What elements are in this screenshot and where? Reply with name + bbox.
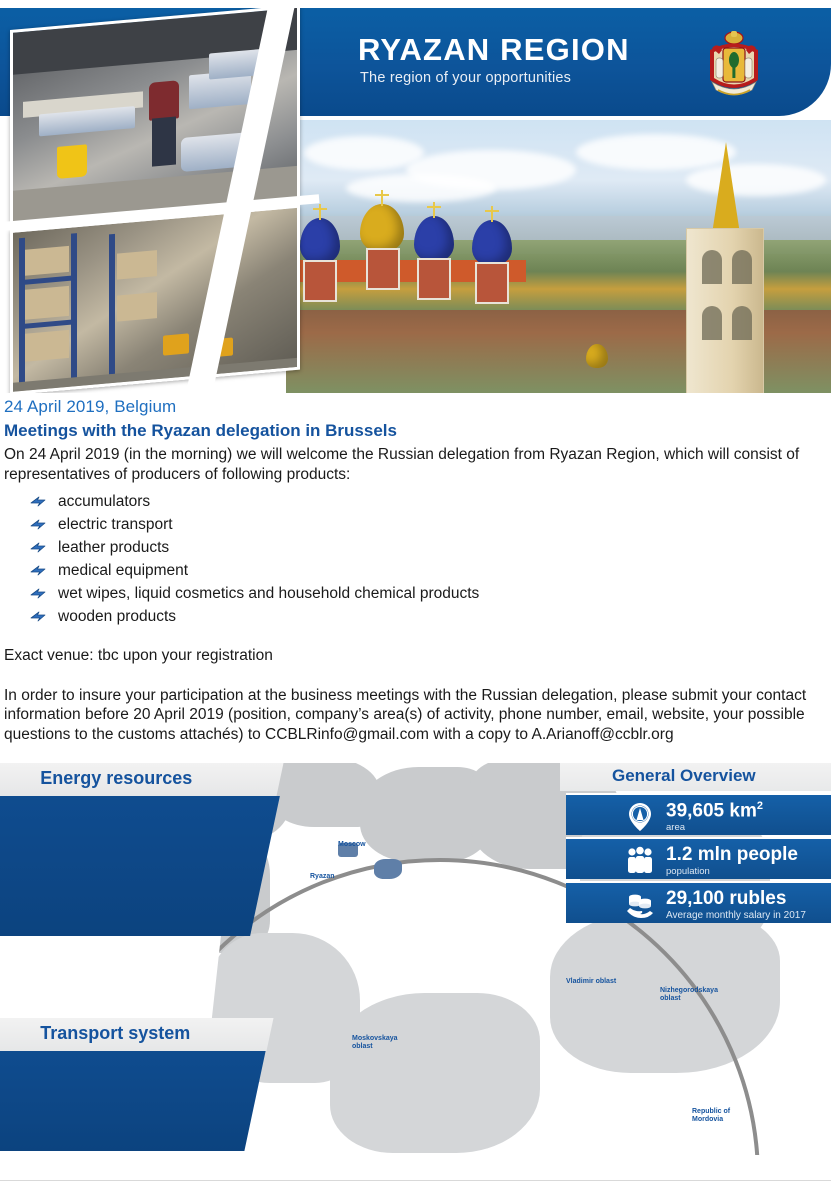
stat-value-area-sup: 2 [757, 800, 763, 812]
neighbour-label-moskovskaya: Moskovskaya oblast [352, 1035, 398, 1051]
venue-note: Exact venue: tbc upon your registration [4, 646, 831, 666]
blue-arrow-bullet-icon [30, 586, 48, 601]
energy-resources-title: Energy resources [40, 768, 192, 789]
stat-caption-population: population [666, 866, 710, 877]
moscow-context-label: Moscow [338, 841, 366, 849]
stat-caption-area: area [666, 822, 685, 833]
list-item: leather products [30, 536, 831, 559]
page-footer-divider [0, 1180, 831, 1181]
article-date-location: 24 April 2019, Belgium [4, 397, 831, 417]
product-label: electric transport [58, 516, 173, 533]
list-item: accumulators [30, 490, 831, 513]
energy-resources-panel [0, 796, 280, 936]
list-item: medical equipment [30, 559, 831, 582]
hero-banner: RYAZAN REGION The region of your opportu… [0, 8, 831, 393]
warehouse-photo [10, 205, 300, 393]
product-label: medical equipment [58, 562, 188, 579]
neighbour-label-vladimir: Vladimir oblast [566, 978, 616, 986]
list-item: wooden products [30, 605, 831, 628]
ryazan-context-label: Ryazan [310, 873, 335, 881]
blue-arrow-bullet-icon [30, 563, 48, 578]
products-list: accumulators electric transport leather … [0, 490, 831, 628]
transport-system-panel [0, 1051, 266, 1151]
general-overview-header: General Overview [560, 763, 831, 791]
ryazan-kremlin-photo [286, 120, 831, 393]
stat-value-salary: 29,100 rubles [666, 888, 786, 910]
neighbour-label-mordovia: Republic of Mordovia [692, 1108, 730, 1124]
people-icon [624, 845, 656, 877]
registration-note: In order to insure your participation at… [4, 686, 831, 745]
stat-value-population: 1.2 mln people [666, 844, 798, 866]
map-pin-icon [624, 801, 656, 833]
brand-title: RYAZAN REGION [358, 32, 630, 68]
product-label: wet wipes, liquid cosmetics and househol… [58, 585, 479, 602]
product-label: wooden products [58, 608, 176, 625]
brand-tagline: The region of your opportunities [360, 70, 571, 86]
article-intro: On 24 April 2019 (in the morning) we wil… [4, 445, 831, 484]
energy-resources-header: Energy resources [0, 763, 284, 796]
product-label: leather products [58, 539, 169, 556]
list-item: electric transport [30, 513, 831, 536]
money-hand-icon [624, 889, 656, 921]
blue-arrow-bullet-icon [30, 517, 48, 532]
ryazan-region-shape [374, 859, 402, 879]
article-body: 24 April 2019, Belgium Meetings with the… [0, 393, 831, 744]
blue-arrow-bullet-icon [30, 609, 48, 624]
article-headline: Meetings with the Ryazan delegation in B… [4, 421, 831, 441]
transport-system-header: Transport system [0, 1018, 274, 1051]
blue-arrow-bullet-icon [30, 494, 48, 509]
list-item: wet wipes, liquid cosmetics and househol… [30, 582, 831, 605]
blue-arrow-bullet-icon [30, 540, 48, 555]
transport-system-title: Transport system [40, 1023, 190, 1044]
coat-of-arms-icon [700, 28, 768, 102]
stat-row-population: 1.2 mln people population [566, 837, 831, 879]
stat-value-area: 39,605 km [666, 800, 757, 821]
infographic: Energy resources Ryazanskaya GRES (Ryaza… [0, 763, 831, 1155]
neighbour-label-nizhegorodskaya: Nizhegorodskaya oblast [660, 987, 718, 1003]
stat-caption-salary: Average monthly salary in 2017 [666, 910, 806, 921]
product-label: accumulators [58, 493, 150, 510]
stat-row-salary: 29,100 rubles Average monthly salary in … [566, 881, 831, 923]
general-overview-title: General Overview [612, 766, 756, 786]
stat-row-area: 39,605 km2 area [566, 793, 831, 835]
